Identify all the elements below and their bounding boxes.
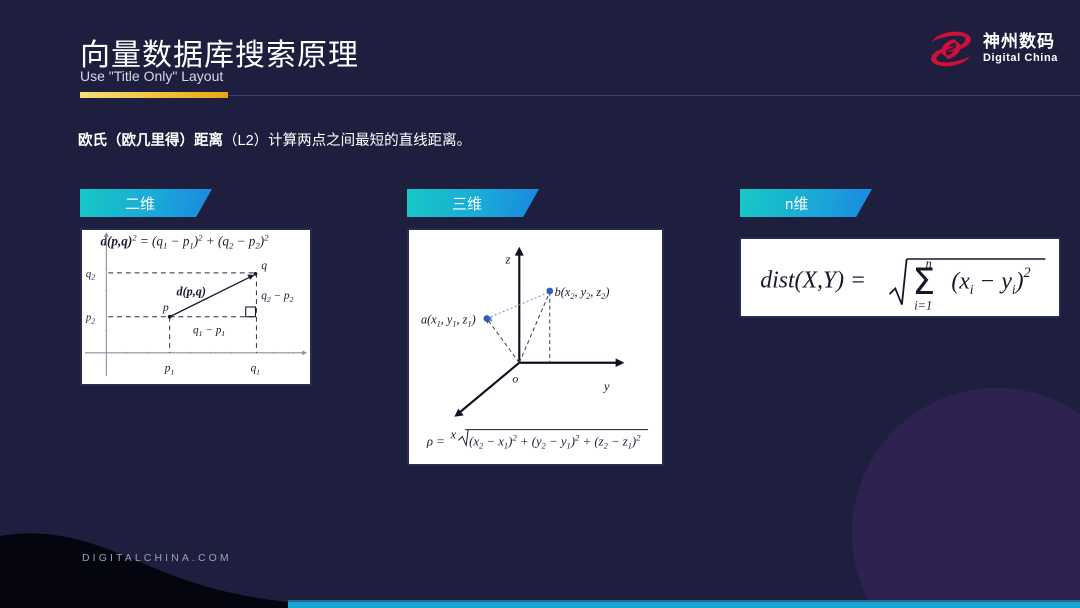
svg-text:o: o [512,371,518,385]
section-banner-label-n-d: n维 [740,193,808,214]
svg-text:(x2 − x1)2 + (y2 − y1)2 + (z2: (x2 − x1)2 + (y2 − y1)2 + (z2 − z1)2 [469,432,641,450]
svg-text:q2 − p2: q2 − p2 [261,290,293,304]
page-subtitle: Use "Title Only" Layout [80,68,223,84]
svg-text:p: p [162,301,169,314]
svg-text:p2: p2 [85,312,95,326]
svg-text:ρ =: ρ = [426,434,445,448]
section-banner-three-d: 三维 [407,189,539,217]
digital-china-swirl-icon [928,28,974,70]
svg-text:z: z [505,252,511,266]
brand-logo: 神州数码 Digital China [928,28,1058,70]
bottom-accent-bar [288,602,1080,608]
section-banner-label-two-d: 二维 [80,193,155,214]
figure-euclidean-2d-svg: d(p,q)2 = (q1 − p1)2 + (q2 − p2)2 [82,230,310,384]
svg-text:d(p,q)2 = (q1 − p1)2 + (q2 − p: d(p,q)2 = (q1 − p1)2 + (q2 − p2)2 [100,233,269,251]
svg-text:q: q [261,259,267,272]
svg-text:p1: p1 [164,362,175,376]
figure-euclidean-3d: z y x o a(x1, y1, z1) b(x2, y2, z2) ρ = … [407,228,664,466]
section-banner-n-d: n维 [740,189,872,217]
purple-circle-decoration [852,388,1080,608]
brand-name-cn: 神州数码 [983,33,1058,51]
figure-euclidean-nd-svg: dist(X,Y) = Σ n i=1 (xi − yi)2 [741,239,1059,316]
section-banner-label-three-d: 三维 [407,193,482,214]
lead-paragraph: 欧氏（欧几里得）距离（L2）计算两点之间最短的直线距离。 [78,129,471,150]
header-divider [80,95,1080,96]
svg-text:n: n [926,257,932,271]
slide-canvas: 向量数据库搜索原理 Use "Title Only" Layout 神州数码 D… [0,0,1080,608]
svg-text:x: x [449,427,456,441]
svg-text:q2: q2 [86,268,95,282]
svg-text:(xi − yi)2: (xi − yi)2 [951,265,1030,297]
svg-text:d(p,q): d(p,q) [177,284,206,298]
svg-text:i=1: i=1 [914,298,932,312]
figure-euclidean-2d: d(p,q)2 = (q1 − p1)2 + (q2 − p2)2 [80,228,312,386]
svg-text:q1: q1 [251,362,261,376]
footer-url: DIGITALCHINA.COM [82,552,232,564]
svg-text:q1 − p1: q1 − p1 [193,324,225,338]
svg-text:y: y [602,379,610,393]
brand-name-en: Digital China [983,53,1058,65]
svg-text:a(x1, y1, z1): a(x1, y1, z1) [421,312,476,328]
header-gold-underline [80,92,228,98]
section-banner-two-d: 二维 [80,189,212,217]
svg-text:dist(X,Y) =: dist(X,Y) = [760,267,866,293]
figure-euclidean-3d-svg: z y x o a(x1, y1, z1) b(x2, y2, z2) ρ = … [409,230,662,464]
figure-euclidean-nd: dist(X,Y) = Σ n i=1 (xi − yi)2 [739,237,1061,318]
lead-bold-text: 欧氏（欧几里得）距离 [78,133,223,149]
svg-text:b(x2, y2, z2): b(x2, y2, z2) [555,285,610,301]
brand-logo-text: 神州数码 Digital China [983,33,1058,64]
lead-regular-text: （L2）计算两点之间最短的直线距离。 [223,133,471,149]
